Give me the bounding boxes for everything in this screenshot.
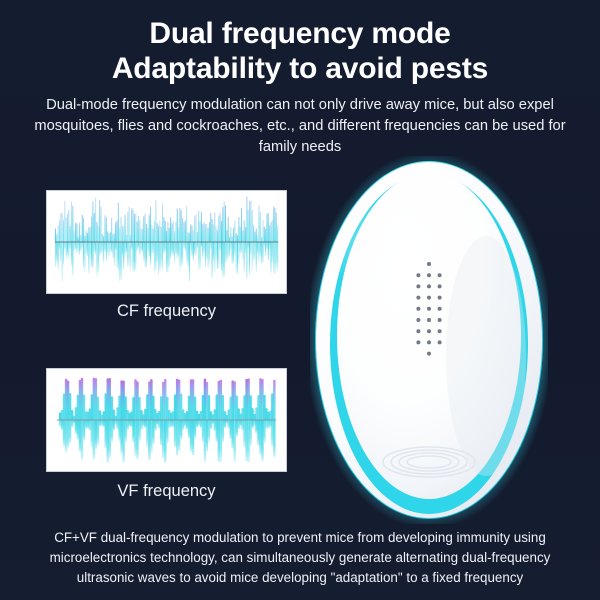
page-title-line-2: Adaptability to avoid pests	[0, 51, 600, 86]
footer-description: CF+VF dual-frequency modulation to preve…	[0, 528, 600, 588]
page-subtitle: Dual-mode frequency modulation can not o…	[0, 95, 600, 158]
vf-frequency-label: VF frequency	[46, 481, 287, 501]
product-feature-page: Dual frequency mode Adaptability to avoi…	[0, 0, 600, 600]
header: Dual frequency mode Adaptability to avoi…	[0, 16, 600, 158]
vf-waveform-graphic	[47, 369, 286, 471]
device-shade	[446, 236, 526, 476]
vf-frequency-waveform-card	[46, 368, 287, 472]
speaker-grille-icon	[416, 262, 441, 356]
device-highlight	[334, 198, 458, 306]
ultrasonic-pest-repeller-device	[310, 156, 548, 524]
cf-frequency-waveform-card	[46, 190, 287, 294]
device-graphic	[310, 156, 548, 524]
cf-waveform-graphic	[47, 191, 286, 293]
page-title-line-1: Dual frequency mode	[0, 16, 600, 51]
cf-frequency-label: CF frequency	[46, 301, 287, 321]
